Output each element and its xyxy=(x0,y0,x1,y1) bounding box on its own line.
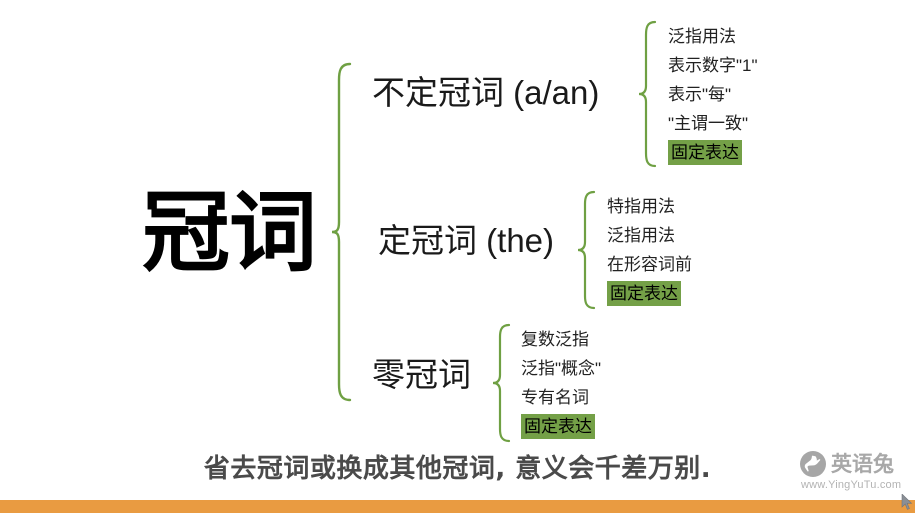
brand-logo-row: 英语兔 xyxy=(800,450,912,478)
list-item: 泛指用法 xyxy=(668,22,758,51)
leaf-group-definite-article: 特指用法 泛指用法 在形容词前 固定表达 xyxy=(607,192,692,308)
list-item-highlighted: 固定表达 xyxy=(607,279,692,308)
leaf-label-highlighted: 固定表达 xyxy=(521,414,595,439)
list-item: 泛指用法 xyxy=(607,221,692,250)
leaf-label: 复数泛指 xyxy=(521,330,589,349)
mouse-cursor-icon xyxy=(901,494,913,510)
leaf-group-zero-article: 复数泛指 泛指"概念" 专有名词 固定表达 xyxy=(521,325,601,441)
list-item: 在形容词前 xyxy=(607,250,692,279)
leaf-label: 专有名词 xyxy=(521,388,589,407)
slide-caption: 省去冠词或换成其他冠词, 意义会千差万别. xyxy=(0,452,915,486)
list-item-highlighted: 固定表达 xyxy=(668,138,758,167)
brand-name: 英语兔 xyxy=(831,451,894,477)
brand-url: www.YingYuTu.com xyxy=(801,478,912,492)
leaf-label: 泛指用法 xyxy=(668,27,736,46)
branch-brace-definite-article xyxy=(576,190,598,310)
leaf-group-indefinite-article: 泛指用法 表示数字"1" 表示"每" "主谓一致" 固定表达 xyxy=(668,22,758,167)
mindmap-slide: 冠词 不定冠词 (a/an) 泛指用法 表示数字"1" 表示"每" "主谓一致"… xyxy=(0,0,915,517)
branch-brace-indefinite-article xyxy=(637,20,659,168)
branch-label-definite-article: 定冠词 (the) xyxy=(378,222,554,260)
list-item: 表示数字"1" xyxy=(668,51,758,80)
list-item: 复数泛指 xyxy=(521,325,601,354)
leaf-label: 表示"每" xyxy=(668,85,731,104)
leaf-label: "主谓一致" xyxy=(668,114,748,133)
branch-brace-zero-article xyxy=(491,323,513,443)
list-item: 泛指"概念" xyxy=(521,354,601,383)
leaf-label-highlighted: 固定表达 xyxy=(607,281,681,306)
brand-logo: 英语兔 www.YingYuTu.com xyxy=(800,450,912,494)
list-item-highlighted: 固定表达 xyxy=(521,412,601,441)
leaf-label-highlighted: 固定表达 xyxy=(668,140,742,165)
list-item: 特指用法 xyxy=(607,192,692,221)
list-item: 专有名词 xyxy=(521,383,601,412)
branch-label-zero-article: 零冠词 xyxy=(372,356,471,394)
rabbit-mark-icon xyxy=(800,451,826,477)
list-item: "主谓一致" xyxy=(668,109,758,138)
leaf-label: 泛指用法 xyxy=(607,226,675,245)
bottom-accent-bar xyxy=(0,500,915,513)
leaf-label: 泛指"概念" xyxy=(521,359,601,378)
leaf-label: 特指用法 xyxy=(607,197,675,216)
list-item: 表示"每" xyxy=(668,80,758,109)
leaf-label: 表示数字"1" xyxy=(668,56,758,75)
branch-label-indefinite-article: 不定冠词 (a/an) xyxy=(372,74,599,112)
root-title: 冠词 xyxy=(142,178,342,286)
leaf-label: 在形容词前 xyxy=(607,255,692,274)
